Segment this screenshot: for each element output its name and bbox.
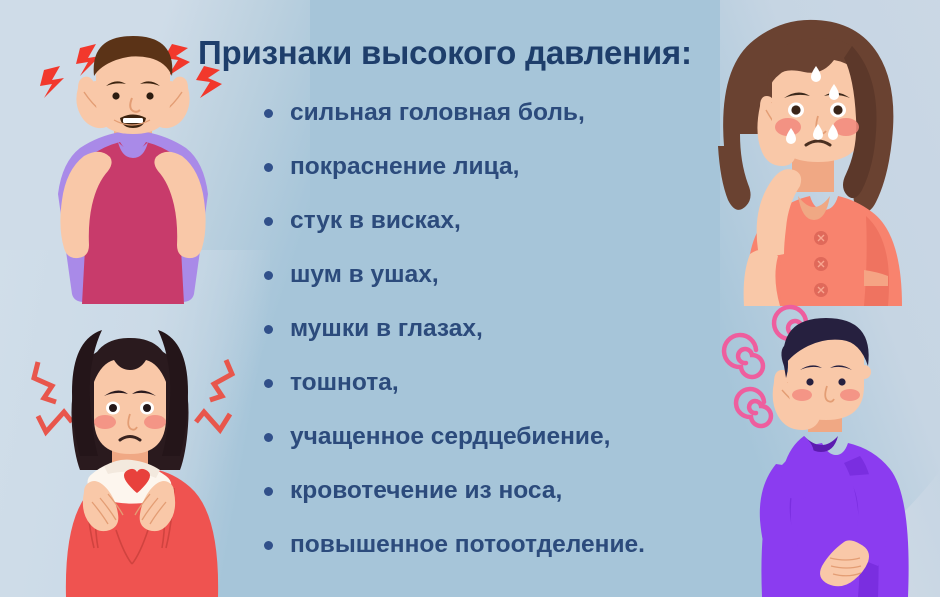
man-nausea-illustration xyxy=(700,296,940,597)
list-item: мушки в глазах, xyxy=(262,308,645,362)
bullet-icon xyxy=(264,163,273,172)
symptom-list: сильная головная боль, покраснение лица,… xyxy=(262,92,645,578)
bullet-icon xyxy=(264,271,273,280)
figure-man-nausea xyxy=(700,296,940,597)
woman-nosebleed-illustration xyxy=(8,316,258,597)
bullet-icon xyxy=(264,487,273,496)
figure-woman-headache xyxy=(688,6,938,306)
list-item: сильная головная боль, xyxy=(262,92,645,146)
list-item-label: сильная головная боль, xyxy=(290,99,585,126)
list-item: повышенное потоотделение. xyxy=(262,524,645,578)
woman-headache-illustration xyxy=(688,6,938,306)
list-item-label: покраснение лица, xyxy=(290,153,519,180)
list-item: стук в висках, xyxy=(262,200,645,254)
infographic-poster: Признаки высокого давления: сильная голо… xyxy=(0,0,940,597)
bullet-icon xyxy=(264,379,273,388)
list-item: шум в ушах, xyxy=(262,254,645,308)
list-item-label: повышенное потоотделение. xyxy=(290,531,645,558)
list-item-label: шум в ушах, xyxy=(290,261,439,288)
button-icon xyxy=(814,231,828,297)
figure-woman-nosebleed xyxy=(8,316,258,597)
list-item: кровотечение из носа, xyxy=(262,470,645,524)
list-item-label: мушки в глазах, xyxy=(290,315,483,342)
list-item: учащенное сердцебиение, xyxy=(262,416,645,470)
bullet-icon xyxy=(264,433,273,442)
list-item-label: учащенное сердцебиение, xyxy=(290,423,610,450)
bullet-icon xyxy=(264,325,273,334)
page-title: Признаки высокого давления: xyxy=(198,34,692,72)
list-item-label: кровотечение из носа, xyxy=(290,477,562,504)
bullet-icon xyxy=(264,541,273,550)
list-item-label: тошнота, xyxy=(290,369,399,396)
bullet-icon xyxy=(264,109,273,118)
list-item-label: стук в висках, xyxy=(290,207,461,234)
bullet-icon xyxy=(264,217,273,226)
list-item: покраснение лица, xyxy=(262,146,645,200)
list-item: тошнота, xyxy=(262,362,645,416)
